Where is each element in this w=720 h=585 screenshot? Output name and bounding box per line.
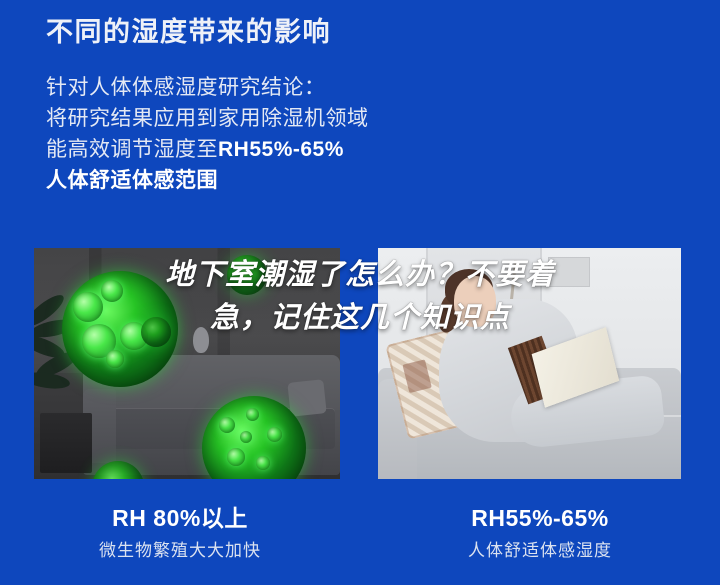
subtitle-block: 针对人体体感湿度研究结论： 将研究结果应用到家用除湿机领域 能高效调节湿度至RH… [46,72,666,196]
page-title: 不同的湿度带来的影响 [46,16,666,50]
vase [193,327,209,353]
subtitle-line-3-regular: 能高效调节湿度至 [46,138,218,161]
dark-sofa-cushion [287,380,326,417]
header-block: 不同的湿度带来的影响 针对人体体感湿度研究结论： 将研究结果应用到家用除湿机领域… [46,16,666,196]
subtitle-line-2: 将研究结果应用到家用除湿机领域 [46,103,666,134]
caption-column-comfort-humidity: RH55%-65% 人体舒适体感湿度 [360,502,720,582]
woman-head [454,276,496,327]
caption-column-high-humidity: RH 80%以上 微生物繁殖大大加快 [0,502,360,582]
caption-sub-high-humidity: 微生物繁殖大大加快 [0,538,360,563]
subtitle-line-1: 针对人体体感湿度研究结论： [46,72,666,103]
photo-row [0,248,720,480]
photo-comfortable-room-woman-reading [378,248,681,479]
subtitle-line-3: 能高效调节湿度至RH55%-65% [46,134,666,165]
caption-sub-comfort-humidity: 人体舒适体感湿度 [360,538,720,563]
caption-row: RH 80%以上 微生物繁殖大大加快 RH55%-65% 人体舒适体感湿度 [0,502,720,582]
light-room-scene [378,248,681,479]
caption-main-comfort-humidity: RH55%-65% [360,502,720,534]
photo-damp-room-with-mold [34,248,340,479]
subtitle-line-4: 人体舒适体感范围 [46,165,666,196]
poster-root: 不同的湿度带来的影响 针对人体体感湿度研究结论： 将研究结果应用到家用除湿机领域… [0,0,720,585]
mold-blob-small-top [227,255,267,295]
caption-main-high-humidity: RH 80%以上 [0,502,360,534]
wall-shelf [548,257,590,287]
subtitle-line-3-emphasis: RH55%-65% [218,138,344,161]
dark-room-scene [34,248,340,479]
